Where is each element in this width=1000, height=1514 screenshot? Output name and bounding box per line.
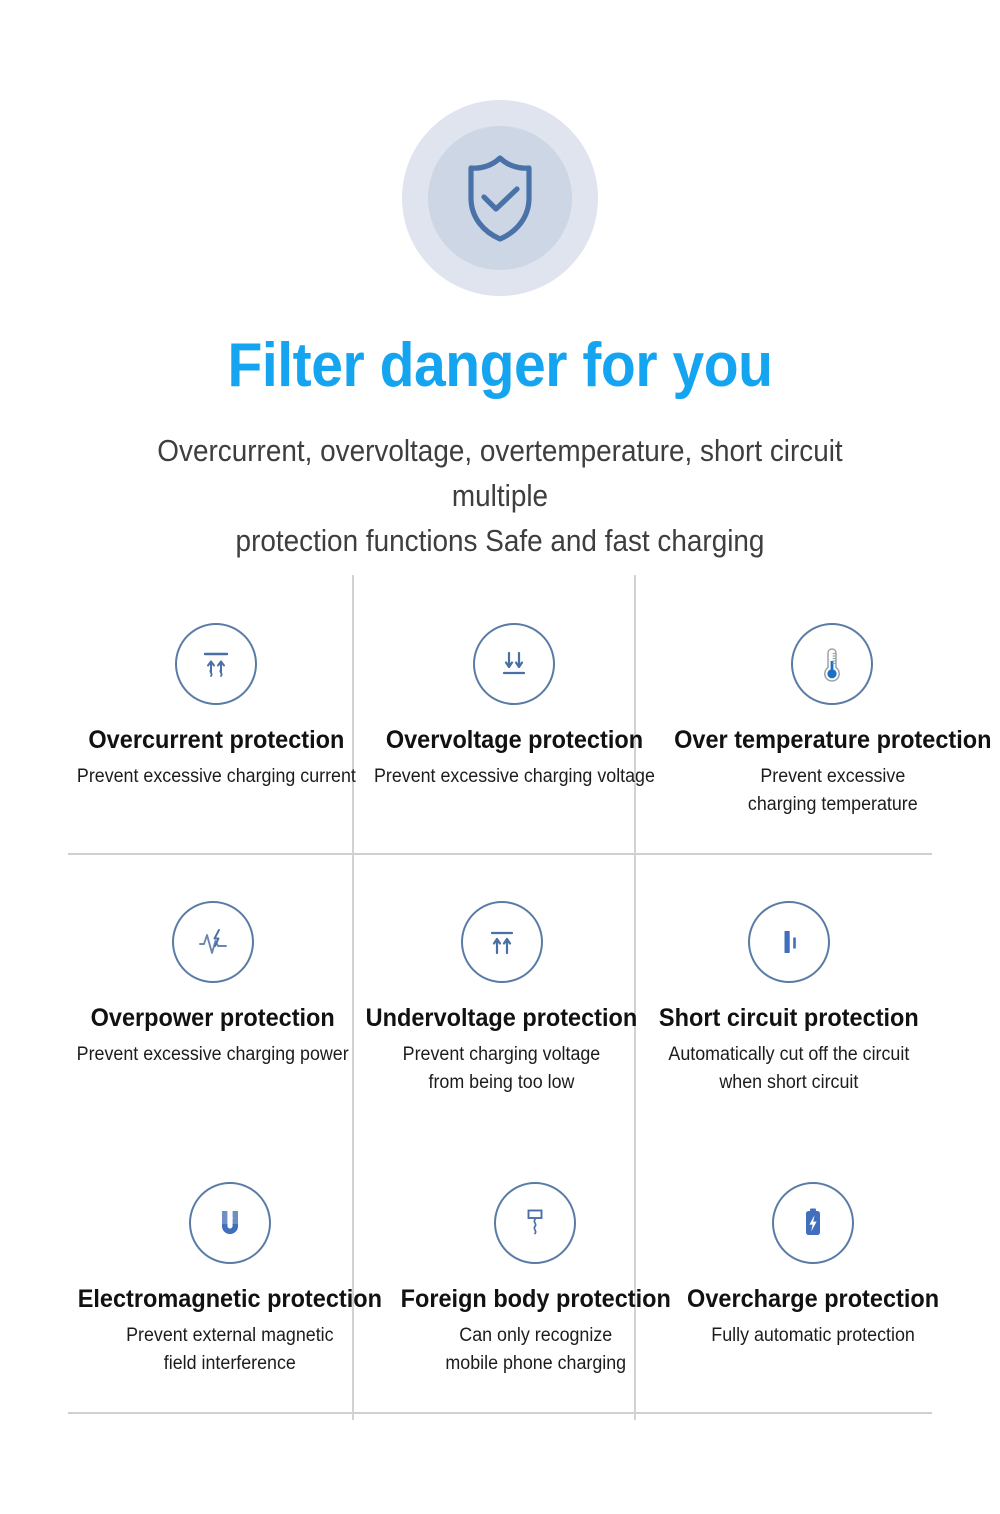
- feature-title: Overcharge protection: [687, 1284, 939, 1314]
- feature-description-line: Prevent excessive: [674, 763, 991, 791]
- overcurrent-icon: [175, 623, 257, 705]
- feature-description-line: Prevent excessive charging current: [77, 763, 356, 791]
- feature-description-line: Prevent excessive charging voltage: [374, 763, 655, 791]
- feature-row: Electromagnetic protection Prevent exter…: [68, 1134, 932, 1420]
- feature-description-line: when short circuit: [655, 1069, 924, 1097]
- feature-title: Overvoltage protection: [374, 725, 655, 755]
- feature-cell-overvoltage[interactable]: Overvoltage protection Prevent excessive…: [365, 575, 664, 853]
- feature-description: Prevent charging voltage from being too …: [366, 1041, 638, 1097]
- overvoltage-icon: [473, 623, 555, 705]
- feature-title: Short circuit protection: [655, 1003, 924, 1033]
- foreign-body-icon: [494, 1182, 576, 1264]
- feature-cell-electromagnetic[interactable]: Electromagnetic protection Prevent exter…: [68, 1134, 392, 1420]
- feature-cell-foreign-body[interactable]: Foreign body protection Can only recogni…: [392, 1134, 680, 1420]
- feature-grid: Overcurrent protection Prevent excessive…: [68, 575, 932, 1420]
- subheadline-line-1: Overcurrent, overvoltage, overtemperatur…: [113, 428, 887, 518]
- badge-outer-ring: [402, 100, 598, 296]
- feature-description-line: Prevent external magnetic: [78, 1322, 382, 1350]
- feature-title: Overpower protection: [77, 1003, 349, 1033]
- feature-description: Fully automatic protection: [687, 1322, 939, 1350]
- feature-title: Foreign body protection: [400, 1284, 670, 1314]
- feature-cell-overcharge[interactable]: Overcharge protection Fully automatic pr…: [679, 1134, 947, 1420]
- battery-bolt-icon: [772, 1182, 854, 1264]
- feature-description: Can only recognize mobile phone charging: [400, 1322, 670, 1378]
- shield-check-icon: [454, 150, 546, 246]
- feature-description: Prevent excessive charging current: [77, 763, 356, 791]
- feature-description-line: from being too low: [366, 1069, 638, 1097]
- feature-description-line: charging temperature: [674, 791, 991, 819]
- magnet-icon: [189, 1182, 271, 1264]
- feature-cell-overcurrent[interactable]: Overcurrent protection Prevent excessive…: [68, 575, 365, 853]
- feature-description: Prevent external magnetic field interfer…: [78, 1322, 382, 1378]
- feature-description: Automatically cut off the circuit when s…: [655, 1041, 924, 1097]
- feature-title: Over temperature protection: [674, 725, 991, 755]
- badge-inner-ring: [428, 126, 572, 270]
- feature-row: Overpower protection Prevent excessive c…: [68, 853, 932, 1134]
- feature-cell-undervoltage[interactable]: Undervoltage protection Prevent charging…: [357, 853, 646, 1134]
- feature-cell-overpower[interactable]: Overpower protection Prevent excessive c…: [68, 853, 357, 1134]
- feature-description-line: Prevent excessive charging power: [77, 1041, 349, 1069]
- subheadline-line-2: protection functions Safe and fast charg…: [113, 518, 887, 563]
- feature-title: Electromagnetic protection: [78, 1284, 382, 1314]
- feature-description: Prevent excessive charging temperature: [674, 763, 991, 819]
- thermometer-icon: [791, 623, 873, 705]
- hero-badge: [0, 100, 1000, 296]
- feature-description-line: Prevent charging voltage: [366, 1041, 638, 1069]
- feature-description-line: Automatically cut off the circuit: [655, 1041, 924, 1069]
- feature-cell-short-circuit[interactable]: Short circuit protection Automatically c…: [646, 853, 932, 1134]
- feature-description-line: Can only recognize: [400, 1322, 670, 1350]
- feature-description: Prevent excessive charging power: [77, 1041, 349, 1069]
- feature-description: Prevent excessive charging voltage: [374, 763, 655, 791]
- page-subheadline: Overcurrent, overvoltage, overtemperatur…: [113, 428, 887, 563]
- feature-row: Overcurrent protection Prevent excessive…: [68, 575, 932, 853]
- undervoltage-icon: [461, 901, 543, 983]
- overpower-pulse-icon: [172, 901, 254, 983]
- feature-description-line: field interference: [78, 1350, 382, 1378]
- feature-description-line: mobile phone charging: [400, 1350, 670, 1378]
- infographic-page: Filter danger for you Overcurrent, overv…: [0, 0, 1000, 1514]
- feature-title: Undervoltage protection: [366, 1003, 638, 1033]
- feature-cell-over-temperature[interactable]: Over temperature protection Prevent exce…: [664, 575, 1000, 853]
- feature-description-line: Fully automatic protection: [687, 1322, 939, 1350]
- short-circuit-icon: [748, 901, 830, 983]
- feature-title: Overcurrent protection: [77, 725, 356, 755]
- page-headline: Filter danger for you: [40, 330, 960, 402]
